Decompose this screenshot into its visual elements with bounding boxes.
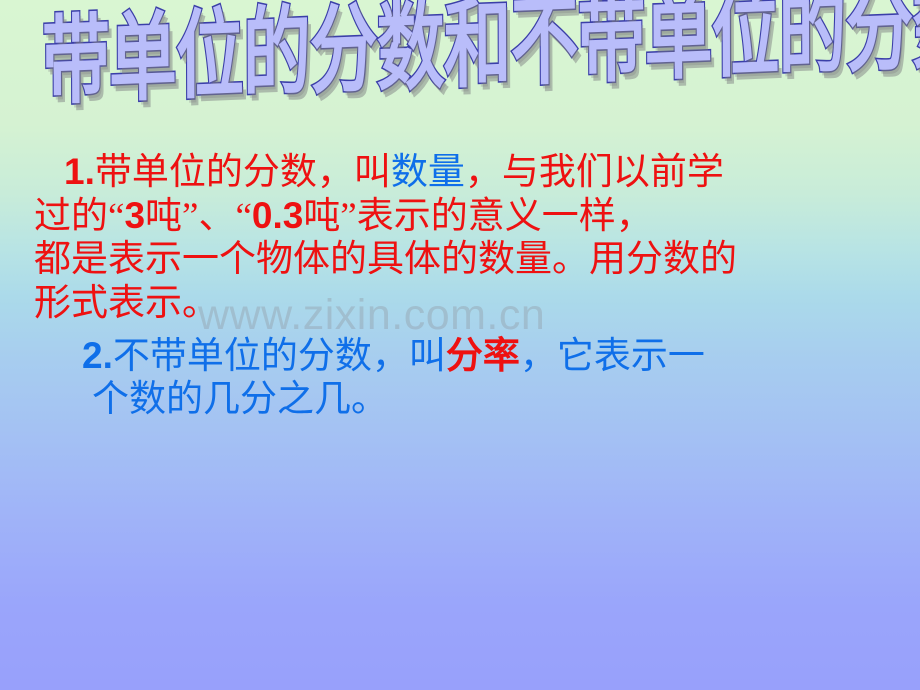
body-text-block: 1.带单位的分数，叫数量，与我们以前学 过的“3吨”、“0.3吨”表示的意义一样…: [0, 150, 920, 422]
list-marker-2: 2.: [82, 335, 113, 376]
text-segment: 吨”、“: [145, 196, 252, 237]
quantity-3: 3: [124, 195, 145, 236]
highlight-shuliang: 数量: [391, 152, 465, 193]
text-segment: 形式表示。: [34, 283, 219, 324]
text-line: 1.带单位的分数，叫数量，与我们以前学: [0, 150, 920, 194]
text-segment: ，与我们以前学: [465, 152, 724, 193]
list-marker-1: 1.: [64, 151, 95, 192]
text-segment: ，它表示一: [520, 336, 705, 377]
page-title: 带单位的分数和不带单位的分数的区别: [42, 0, 920, 112]
highlight-fenlv: 分率: [446, 335, 520, 376]
text-segment: 过的“: [34, 196, 124, 237]
text-segment: 吨”表示的意义一样，: [303, 196, 652, 237]
text-segment: 不带单位的分数，叫: [113, 336, 446, 377]
quantity-0-3: 0.3: [252, 195, 303, 236]
text-line: 形式表示。: [0, 282, 920, 326]
text-segment: 都是表示一个物体的具体的数量。用分数的: [34, 239, 737, 280]
text-line: 过的“3吨”、“0.3吨”表示的意义一样，: [0, 194, 920, 238]
text-line: 2.不带单位的分数，叫分率，它表示一: [0, 334, 920, 378]
title-area: 带单位的分数和不带单位的分数的区别: [0, 16, 920, 146]
slide-canvas: www.zixin.com.cn 带单位的分数和不带单位的分数的区别 1.带单位…: [0, 0, 920, 690]
text-segment: 个数的几分之几。: [92, 379, 388, 420]
text-segment: 带单位的分数，叫: [95, 152, 391, 193]
text-line: 都是表示一个物体的具体的数量。用分数的: [0, 238, 920, 282]
text-line: 个数的几分之几。: [0, 378, 920, 422]
